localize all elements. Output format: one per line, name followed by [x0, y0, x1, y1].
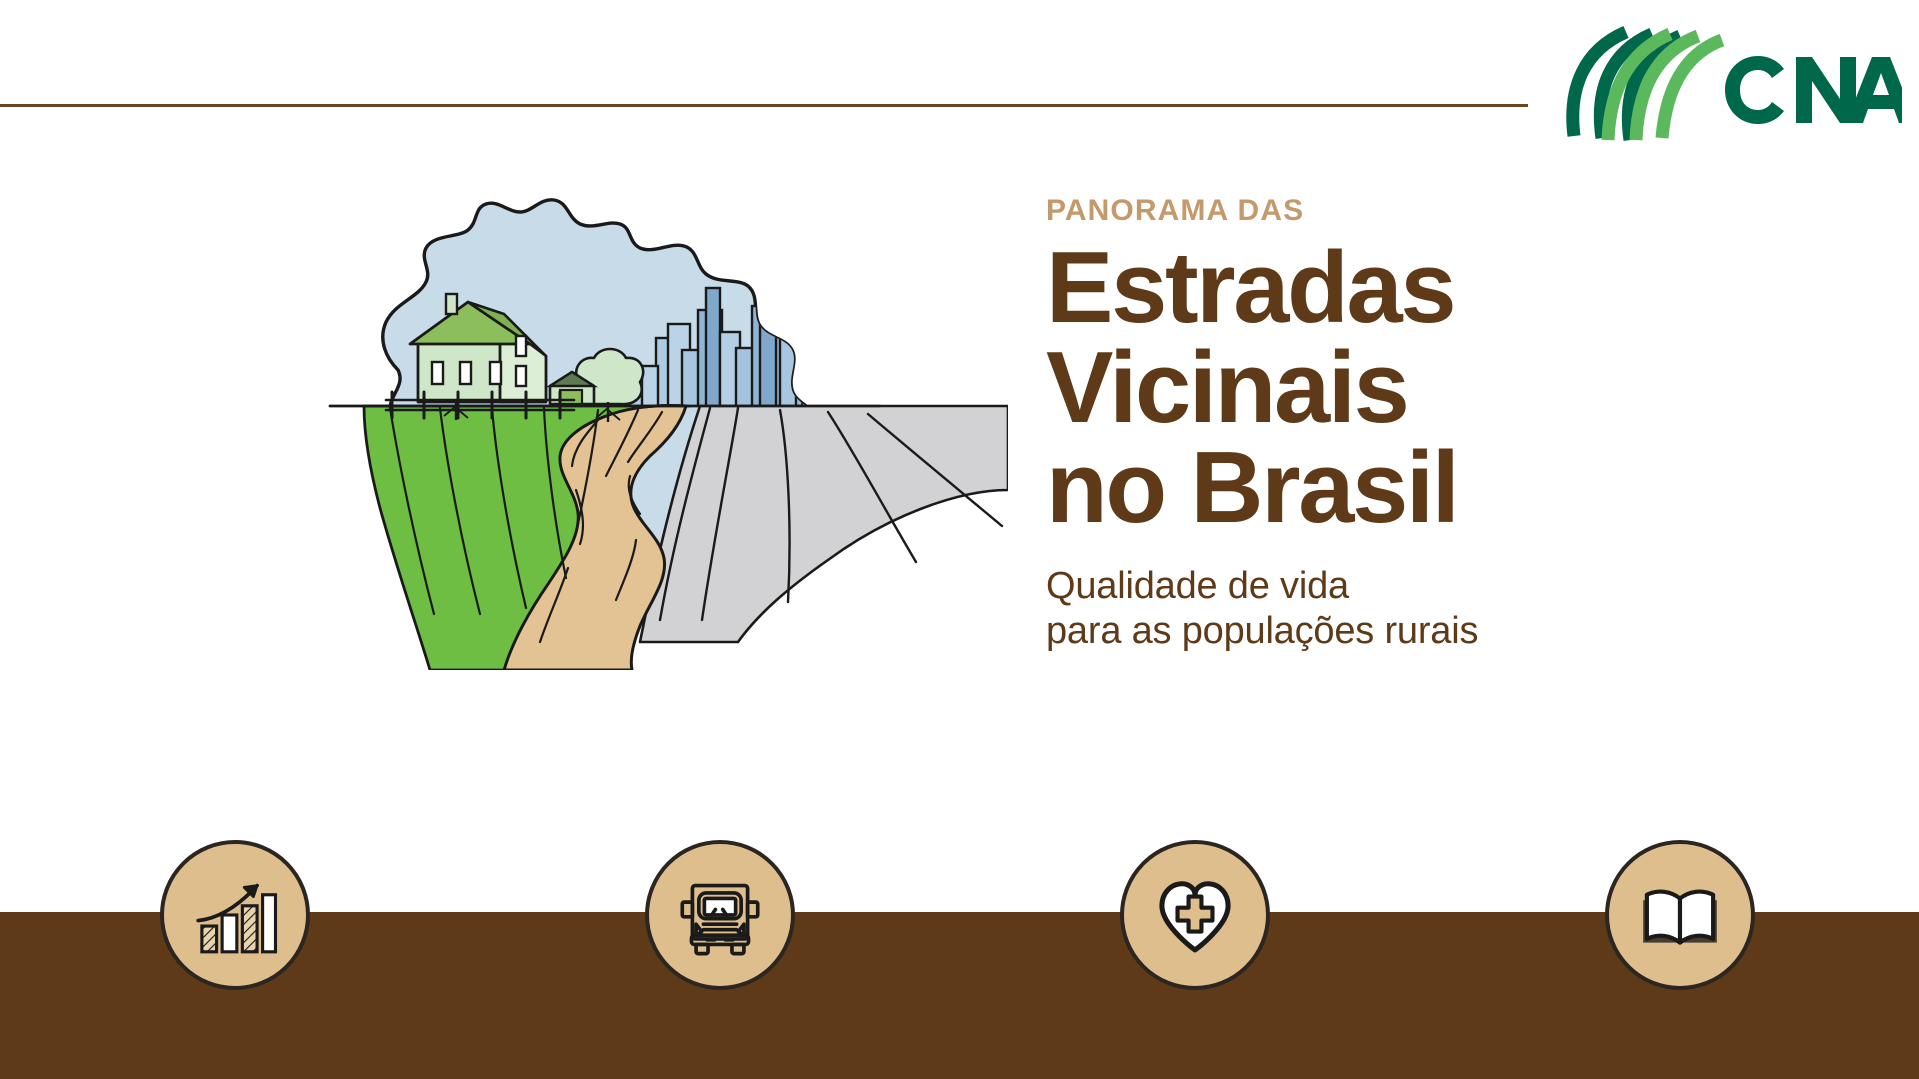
- badge-health[interactable]: [1120, 840, 1270, 990]
- cna-logo[interactable]: [1562, 24, 1902, 142]
- title-line-2: Vicinais: [1046, 338, 1746, 438]
- slide-root: PANORAMA DAS Estradas Vicinais no Brasil…: [0, 0, 1919, 1079]
- title-block: PANORAMA DAS Estradas Vicinais no Brasil…: [1046, 196, 1746, 654]
- badge-growth-chart[interactable]: [160, 840, 310, 990]
- open-book-icon: [1634, 869, 1726, 961]
- page-title: Estradas Vicinais no Brasil: [1046, 238, 1746, 538]
- badge-truck[interactable]: [645, 840, 795, 990]
- header-divider-rule: [0, 104, 1528, 107]
- page-subtitle: Qualidade de vida para as populações rur…: [1046, 564, 1746, 654]
- truck-icon: [674, 869, 766, 961]
- title-line-1: Estradas: [1046, 238, 1746, 338]
- growth-chart-icon: [189, 869, 281, 961]
- subtitle-line-2: para as populações rurais: [1046, 609, 1746, 654]
- title-line-3: no Brasil: [1046, 438, 1746, 538]
- badge-book[interactable]: [1605, 840, 1755, 990]
- asphalt-highway: [640, 406, 1008, 642]
- subtitle-line-1: Qualidade de vida: [1046, 564, 1746, 609]
- cna-wheat-arcs-icon: [1570, 32, 1722, 140]
- heart-health-icon: [1149, 869, 1241, 961]
- cna-logo-wordmark: [1725, 56, 1902, 124]
- eyebrow-label: PANORAMA DAS: [1046, 196, 1746, 226]
- brazil-map-rural-urban-road-illustration: [268, 190, 1008, 670]
